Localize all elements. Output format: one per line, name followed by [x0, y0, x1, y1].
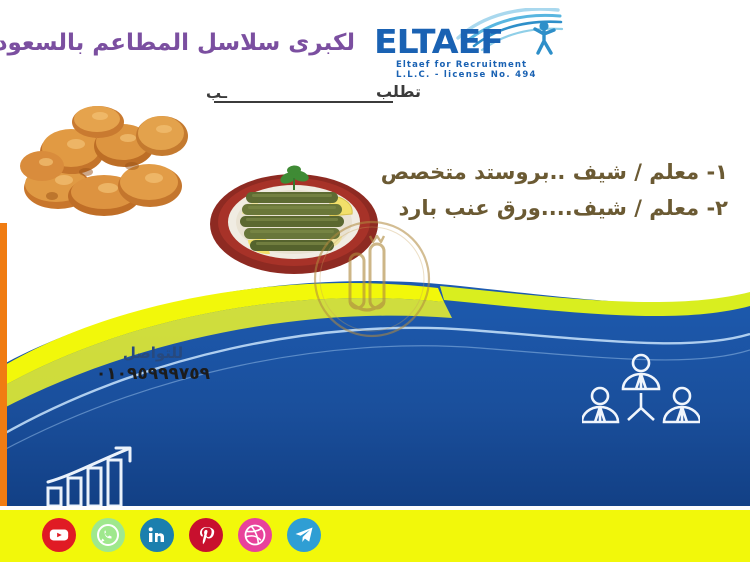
team-org-chart-icon [582, 352, 700, 436]
dribbble-glyph [243, 523, 267, 547]
request-heading: تطلب ـب [206, 82, 421, 108]
food-image-broasted-chicken [12, 96, 197, 218]
linkedin-icon[interactable] [140, 518, 174, 552]
social-links [42, 515, 321, 555]
request-word: تطلب [376, 82, 421, 101]
slide-canvas: لكبرى سلاسل المطاعم بالسعودية ELTAEF Elt… [0, 0, 750, 562]
request-word-tail: ـب [206, 84, 227, 102]
pinterest-icon[interactable] [189, 518, 223, 552]
list-item: ١- معلم / شيف ..بروستد متخصص [388, 160, 728, 184]
pinterest-glyph [194, 523, 218, 547]
list-item: ٢- معلم / شيف....ورق عنب بارد [388, 196, 728, 220]
request-kashida-rule [214, 101, 393, 103]
job-list: ١- معلم / شيف ..بروستد متخصص ٢- معلم / ش… [388, 160, 728, 232]
youtube-glyph [48, 524, 70, 546]
contact-label: للتواصل [68, 344, 238, 362]
watermark-logo [312, 218, 432, 340]
logo-tagline-2: L.L.C. - license No. 494 [396, 70, 537, 80]
company-logo: ELTAEF Eltaef for Recruitment L.L.C. - l… [372, 8, 572, 80]
youtube-icon[interactable] [42, 518, 76, 552]
telegram-icon[interactable] [287, 518, 321, 552]
contact-phone-number[interactable]: ٠١٠٩٥٩٩٩٧٥٩ [68, 364, 238, 384]
logo-tagline-1: Eltaef for Recruitment [396, 60, 527, 70]
logo-wordmark: ELTAEF [374, 22, 503, 61]
page-title: لكبرى سلاسل المطاعم بالسعودية [0, 30, 355, 56]
whatsapp-icon[interactable] [91, 518, 125, 552]
whatsapp-glyph [96, 523, 120, 547]
linkedin-glyph [145, 523, 169, 547]
telegram-glyph [292, 523, 316, 547]
contact-block: للتواصل ٠١٠٩٥٩٩٩٧٥٩ [68, 344, 238, 384]
growth-bar-chart-arrow-icon [44, 446, 144, 508]
dribbble-icon[interactable] [238, 518, 272, 552]
